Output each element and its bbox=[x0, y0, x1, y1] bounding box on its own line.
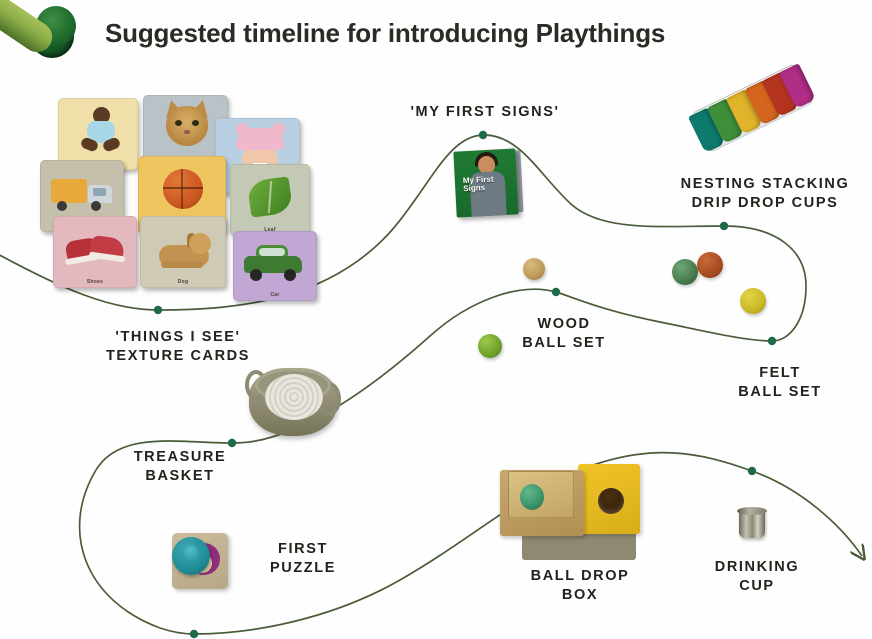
card-shoes: Shoes bbox=[53, 216, 137, 288]
nesting-stacking-cups-image bbox=[688, 62, 816, 152]
book-cover-text: My First Signs bbox=[463, 175, 510, 193]
cup-lip bbox=[737, 507, 767, 515]
node-my-first-signs bbox=[479, 131, 487, 139]
node-felt-ball-set bbox=[768, 337, 776, 345]
treasure-basket-image bbox=[245, 362, 341, 440]
felt-ball-rust bbox=[697, 252, 723, 278]
felt-ball-green bbox=[672, 259, 698, 285]
ball-drop-box-image bbox=[500, 462, 636, 560]
card-dog-label: Dog bbox=[141, 279, 225, 285]
first-puzzle-image bbox=[172, 533, 228, 589]
node-drinking-cup bbox=[748, 467, 756, 475]
basket-coil-contents bbox=[265, 374, 323, 420]
card-shoes-label: Shoes bbox=[54, 279, 136, 285]
felt-ball-yellow bbox=[740, 288, 766, 314]
timeline-infographic: Suggested timeline for introducing Playt… bbox=[0, 0, 872, 639]
wood-ball-tan bbox=[523, 258, 545, 280]
card-car-label: Car bbox=[234, 292, 316, 298]
puzzle-knob-top bbox=[184, 545, 199, 560]
node-nesting-cups bbox=[720, 222, 728, 230]
label-first-puzzle: FIRST PUZZLE bbox=[233, 540, 373, 578]
card-car: Car bbox=[233, 231, 317, 301]
node-texture-cards bbox=[154, 306, 162, 314]
label-my-first-signs: 'MY FIRST SIGNS' bbox=[385, 103, 585, 122]
node-treasure-basket bbox=[228, 439, 236, 447]
my-first-signs-book-image: My First Signs bbox=[453, 148, 518, 217]
box-green-ball bbox=[520, 484, 544, 510]
label-wood-ball-set: WOOD BALL SET bbox=[494, 315, 634, 353]
label-felt-ball-set: FELT BALL SET bbox=[710, 364, 850, 402]
book-cover: My First Signs bbox=[453, 148, 518, 217]
card-leaf: Leaf bbox=[230, 164, 310, 236]
drinking-cup-image bbox=[737, 505, 767, 539]
card-shoes-art bbox=[54, 217, 136, 287]
label-nesting-stacking-drip-drop-cups: NESTING STACKING DRIP DROP CUPS bbox=[655, 175, 872, 213]
label-ball-drop-box: BALL DROP BOX bbox=[500, 567, 660, 605]
node-first-puzzle bbox=[190, 630, 198, 638]
things-i-see-texture-cards-image: Baby Cat Hat Truck Ball bbox=[40, 98, 330, 288]
card-car-art bbox=[234, 232, 316, 300]
label-drinking-cup: DRINKING CUP bbox=[682, 558, 832, 596]
box-drop-hole bbox=[598, 488, 624, 514]
card-leaf-art bbox=[231, 165, 309, 235]
card-baby-art bbox=[59, 99, 137, 169]
label-things-i-see-texture-cards: 'THINGS I SEE' TEXTURE CARDS bbox=[68, 328, 288, 366]
label-treasure-basket: TREASURE BASKET bbox=[90, 448, 270, 486]
card-dog-art bbox=[141, 217, 225, 287]
node-wood-ball-set bbox=[552, 288, 560, 296]
card-dog: Dog bbox=[140, 216, 226, 288]
